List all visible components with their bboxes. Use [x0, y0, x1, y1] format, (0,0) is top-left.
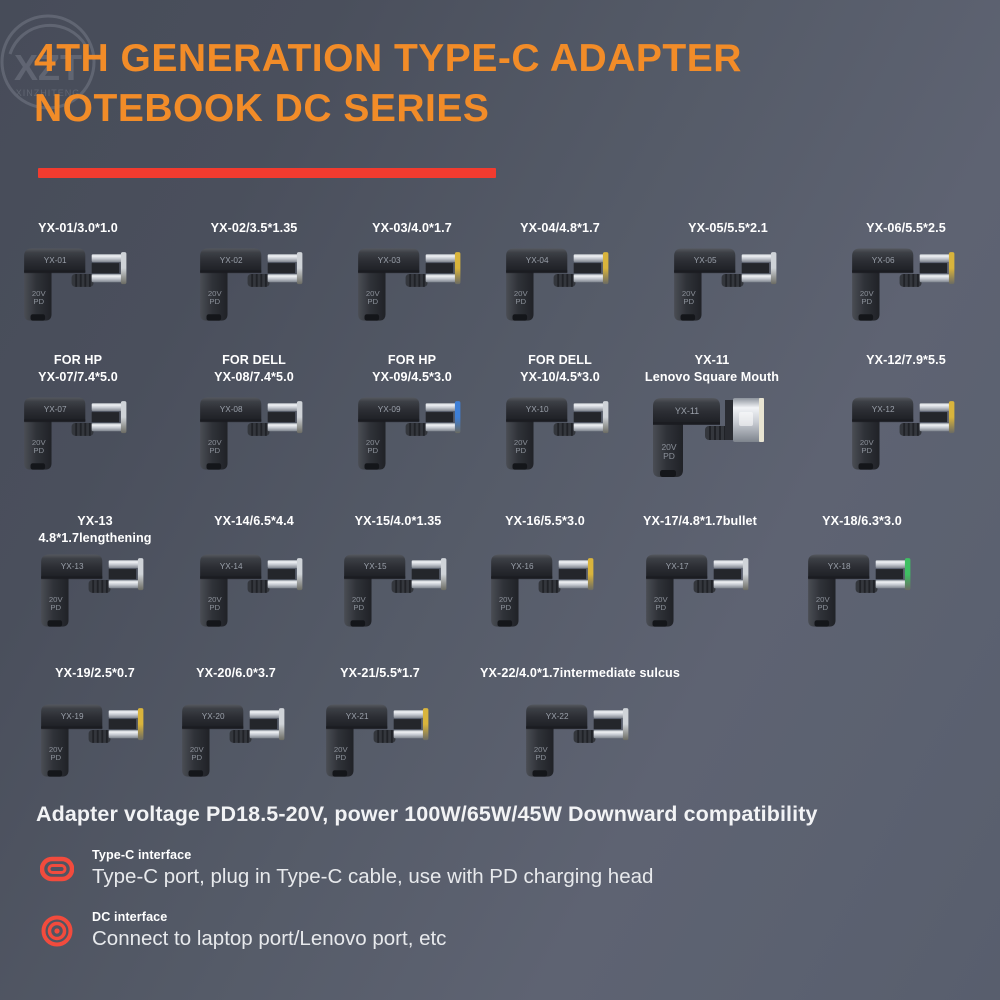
adapter-collar [554, 423, 576, 436]
adapter-collar [392, 580, 414, 593]
adapter-body-label: YX-17 [666, 562, 689, 571]
svg-text:PD: PD [515, 297, 526, 306]
adapter-illustration: 20V PD YX-03 [347, 243, 477, 327]
adapter-illustration: 20V PD YX-09 [347, 392, 477, 476]
adapter-yx-10[interactable]: 20V PD YX-10 [495, 392, 625, 481]
adapter-body-label: YX-19 [61, 712, 84, 721]
adapter-caption-yx-11: YX-11Lenovo Square Mouth [602, 352, 822, 385]
plug-tip [297, 401, 302, 433]
adapter-illustration: 20V PD YX-22 [515, 699, 645, 783]
adapter-collar [72, 274, 94, 287]
adapter-caption-text: YX-12/7.9*5.5 [796, 352, 1000, 369]
adapter-yx-09[interactable]: 20V PD YX-09 [347, 392, 477, 481]
adapter-collar [72, 423, 94, 436]
adapter-yx-04[interactable]: 20V PD YX-04 [495, 243, 625, 332]
adapter-body-label: YX-01 [44, 256, 67, 265]
adapter-collar [694, 580, 716, 593]
type-c-port-icon [36, 856, 78, 882]
adapter-illustration: 20V PD YX-07 [13, 392, 143, 476]
page-header: 4TH GENERATION TYPE-C ADAPTER NOTEBOOK D… [34, 34, 954, 134]
adapter-illustration: 20V PD YX-12 [841, 392, 971, 476]
adapter-illustration: 20V PD YX-05 [663, 243, 793, 327]
dc-barrel-plug [594, 708, 629, 740]
dc-barrel-plug [426, 401, 461, 433]
adapter-yx-12[interactable]: 20V PD YX-12 [841, 392, 971, 481]
plug-tip [441, 558, 446, 590]
adapter-illustration: 20V PD YX-02 [189, 243, 319, 327]
adapter-caption-yx-12: YX-12/7.9*5.5 [796, 352, 1000, 369]
dc-barrel-plug [412, 558, 447, 590]
adapter-body-label: YX-07 [44, 405, 67, 414]
dc-barrel-plug [876, 558, 911, 590]
svg-text:PD: PD [367, 446, 378, 455]
type-c-mouth [207, 620, 222, 626]
type-c-mouth [513, 463, 528, 469]
adapter-caption-yx-22: YX-22/4.0*1.7intermediate sulcus [470, 665, 690, 682]
adapter-collar [248, 423, 270, 436]
type-c-mouth [351, 620, 366, 626]
adapter-illustration: 20V PD YX-01 [13, 243, 143, 327]
adapter-collar [856, 580, 878, 593]
dc-barrel-plug [268, 558, 303, 590]
adapter-caption-text: YX-06/5.5*2.5 [796, 220, 1000, 237]
svg-text:PD: PD [367, 297, 378, 306]
svg-text:PD: PD [50, 603, 61, 612]
adapter-body-label: YX-10 [526, 405, 549, 414]
adapter-body-label: YX-13 [61, 562, 84, 571]
adapter-caption-text: YX-18/6.3*3.0 [752, 513, 972, 530]
dc-barrel-plug [574, 401, 609, 433]
type-c-mouth [207, 463, 222, 469]
plug-tip [423, 708, 428, 740]
adapter-collar [89, 580, 111, 593]
adapter-collar [900, 274, 922, 287]
lenovo-square-mouth-plug [725, 398, 764, 442]
note-dc: DC interface Connect to laptop port/Leno… [36, 910, 446, 951]
svg-text:PD: PD [191, 753, 202, 762]
dc-barrel-plug [714, 558, 749, 590]
adapter-caption-text: YX-21/5.5*1.7 [270, 665, 490, 682]
adapter-body-label: YX-12 [872, 405, 895, 414]
adapter-caption-text: YX-11Lenovo Square Mouth [602, 352, 822, 385]
svg-text:PD: PD [861, 446, 872, 455]
type-c-mouth [48, 770, 63, 776]
plug-tip [603, 252, 608, 284]
plug-tip [771, 252, 776, 284]
plug-tip [603, 401, 608, 433]
adapter-collar [406, 423, 428, 436]
type-c-mouth [815, 620, 830, 626]
spec-line: Adapter voltage PD18.5-20V, power 100W/6… [36, 802, 818, 827]
adapter-yx-01[interactable]: 20V PD YX-01 [13, 243, 143, 332]
dc-barrel-plug [250, 708, 285, 740]
adapter-body-label: YX-03 [378, 256, 401, 265]
adapter-yx-02[interactable]: 20V PD YX-02 [189, 243, 319, 332]
adapter-illustration: 20V PD YX-21 [315, 699, 445, 783]
adapter-yx-19[interactable]: 20V PD YX-19 [30, 699, 160, 788]
adapter-yx-06[interactable]: 20V PD YX-06 [841, 243, 971, 332]
adapter-caption-yx-18: YX-18/6.3*3.0 [752, 513, 972, 530]
adapter-illustration: 20V PD YX-18 [797, 549, 927, 633]
adapter-illustration: 20V PD YX-04 [495, 243, 625, 327]
type-c-mouth [333, 770, 348, 776]
dc-barrel-plug [742, 252, 777, 284]
type-c-mouth [365, 463, 380, 469]
plug-tip [905, 558, 910, 590]
svg-text:PD: PD [861, 297, 872, 306]
adapter-collar [900, 423, 922, 436]
plug-tip [138, 558, 143, 590]
svg-text:PD: PD [683, 297, 694, 306]
dc-port-icon [36, 915, 78, 947]
plug-tip [279, 708, 284, 740]
plug-tip [743, 558, 748, 590]
adapter-illustration: 20V PD YX-16 [480, 549, 610, 633]
svg-text:PD: PD [50, 753, 61, 762]
adapter-body-label: YX-04 [526, 256, 549, 265]
adapter-collar [89, 730, 111, 743]
dc-barrel-plug [426, 252, 461, 284]
type-c-mouth [207, 314, 222, 320]
type-c-mouth [189, 770, 204, 776]
adapter-yx-13[interactable]: 20V PD YX-13 [30, 549, 160, 638]
svg-text:PD: PD [663, 451, 675, 461]
adapter-caption-yx-21: YX-21/5.5*1.7 [270, 665, 490, 682]
plug-tip [455, 252, 460, 284]
adapter-body-label: YX-06 [872, 256, 895, 265]
adapter-yx-18[interactable]: 20V PD YX-18 [797, 549, 927, 638]
adapter-collar [374, 730, 396, 743]
adapter-body-label: YX-11 [675, 406, 699, 416]
svg-text:PD: PD [209, 446, 220, 455]
adapter-collar [248, 274, 270, 287]
plug-tip [121, 252, 126, 284]
adapter-body-label: YX-20 [202, 712, 225, 721]
product-infographic: XZT XINZHITENG 4TH GENERATION TYPE-C ADA… [0, 0, 1000, 1000]
type-c-mouth [48, 620, 63, 626]
plug-tip [949, 401, 954, 433]
adapter-yx-07[interactable]: 20V PD YX-07 [13, 392, 143, 481]
title-underline-rule [38, 168, 496, 178]
adapter-caption-text: YX-22/4.0*1.7intermediate sulcus [470, 665, 690, 682]
adapter-body-label: YX-05 [694, 256, 717, 265]
plug-tip [138, 708, 143, 740]
adapter-body-label: YX-18 [828, 562, 851, 571]
dc-barrel-plug [268, 401, 303, 433]
note-kicker: DC interface [92, 910, 446, 926]
page-title-line-1: 4TH GENERATION TYPE-C ADAPTER [34, 34, 954, 84]
svg-text:PD: PD [655, 603, 666, 612]
dc-barrel-plug [394, 708, 429, 740]
svg-text:PD: PD [515, 446, 526, 455]
adapter-illustration: 20V PD YX-20 [171, 699, 301, 783]
adapter-body-label: YX-08 [220, 405, 243, 414]
type-c-mouth [31, 463, 46, 469]
dc-barrel-plug [109, 558, 144, 590]
svg-text:PD: PD [209, 603, 220, 612]
adapter-yx-20[interactable]: 20V PD YX-20 [171, 699, 301, 788]
adapter-body-label: YX-16 [511, 562, 534, 571]
plug-tip [297, 558, 302, 590]
type-c-mouth [660, 470, 676, 477]
adapter-illustration: 20V PD YX-19 [30, 699, 160, 783]
note-kicker: Type-C interface [92, 848, 653, 864]
type-c-mouth [859, 314, 874, 320]
adapter-yx-22[interactable]: 20V PD YX-22 [515, 699, 645, 788]
adapter-yx-14[interactable]: 20V PD YX-14 [189, 549, 319, 638]
note-body: Type-C port, plug in Type-C cable, use w… [92, 865, 653, 890]
type-c-mouth [498, 620, 513, 626]
adapter-illustration: 20V PD YX-11 [647, 392, 777, 484]
adapter-body-label: YX-14 [220, 562, 243, 571]
dc-barrel-plug [92, 252, 127, 284]
adapter-collar [539, 580, 561, 593]
type-c-mouth [533, 770, 548, 776]
plug-tip [297, 252, 302, 284]
adapter-yx-11[interactable]: 20V PD YX-11 [647, 392, 777, 489]
adapter-yx-08[interactable]: 20V PD YX-08 [189, 392, 319, 481]
svg-text:PD: PD [209, 297, 220, 306]
adapter-body-label: YX-15 [364, 562, 387, 571]
dc-barrel-plug [92, 401, 127, 433]
adapter-collar [722, 274, 744, 287]
svg-text:PD: PD [817, 603, 828, 612]
adapter-yx-16[interactable]: 20V PD YX-16 [480, 549, 610, 638]
adapter-yx-17[interactable]: 20V PD YX-17 [635, 549, 765, 638]
page-title-line-2: NOTEBOOK DC SERIES [34, 84, 954, 134]
adapter-body-label: YX-02 [220, 256, 243, 265]
plug-tip [455, 401, 460, 433]
svg-text:PD: PD [535, 753, 546, 762]
adapter-yx-21[interactable]: 20V PD YX-21 [315, 699, 445, 788]
adapter-illustration: 20V PD YX-15 [333, 549, 463, 633]
type-c-mouth [31, 314, 46, 320]
adapter-illustration: 20V PD YX-10 [495, 392, 625, 476]
adapter-body-label: YX-21 [346, 712, 369, 721]
adapter-illustration: 20V PD YX-06 [841, 243, 971, 327]
plug-tip [623, 708, 628, 740]
note-type-c: Type-C interface Type-C port, plug in Ty… [36, 848, 653, 889]
plug-tip [588, 558, 593, 590]
dc-barrel-plug [559, 558, 594, 590]
type-c-mouth [681, 314, 696, 320]
adapter-collar [574, 730, 596, 743]
adapter-illustration: 20V PD YX-08 [189, 392, 319, 476]
type-c-mouth [859, 463, 874, 469]
plug-tip [949, 252, 954, 284]
adapter-collar [230, 730, 252, 743]
type-c-mouth [653, 620, 668, 626]
svg-text:PD: PD [335, 753, 346, 762]
adapter-collar [406, 274, 428, 287]
dc-barrel-plug [574, 252, 609, 284]
plug-tip [121, 401, 126, 433]
adapter-illustration: 20V PD YX-17 [635, 549, 765, 633]
adapter-yx-03[interactable]: 20V PD YX-03 [347, 243, 477, 332]
dc-barrel-plug [920, 401, 955, 433]
note-body: Connect to laptop port/Lenovo port, etc [92, 927, 446, 952]
adapter-collar [554, 274, 576, 287]
dc-barrel-plug [268, 252, 303, 284]
dc-barrel-plug [920, 252, 955, 284]
svg-text:PD: PD [500, 603, 511, 612]
adapter-illustration: 20V PD YX-13 [30, 549, 160, 633]
svg-text:PD: PD [353, 603, 364, 612]
adapter-yx-05[interactable]: 20V PD YX-05 [663, 243, 793, 332]
adapter-body-label: YX-09 [378, 405, 401, 414]
adapter-caption-yx-06: YX-06/5.5*2.5 [796, 220, 1000, 237]
type-c-mouth [513, 314, 528, 320]
adapter-illustration: 20V PD YX-14 [189, 549, 319, 633]
adapter-yx-15[interactable]: 20V PD YX-15 [333, 549, 463, 638]
adapter-collar [248, 580, 270, 593]
type-c-mouth [365, 314, 380, 320]
svg-text:PD: PD [33, 446, 44, 455]
dc-barrel-plug [109, 708, 144, 740]
svg-text:PD: PD [33, 297, 44, 306]
adapter-body-label: YX-22 [546, 712, 569, 721]
